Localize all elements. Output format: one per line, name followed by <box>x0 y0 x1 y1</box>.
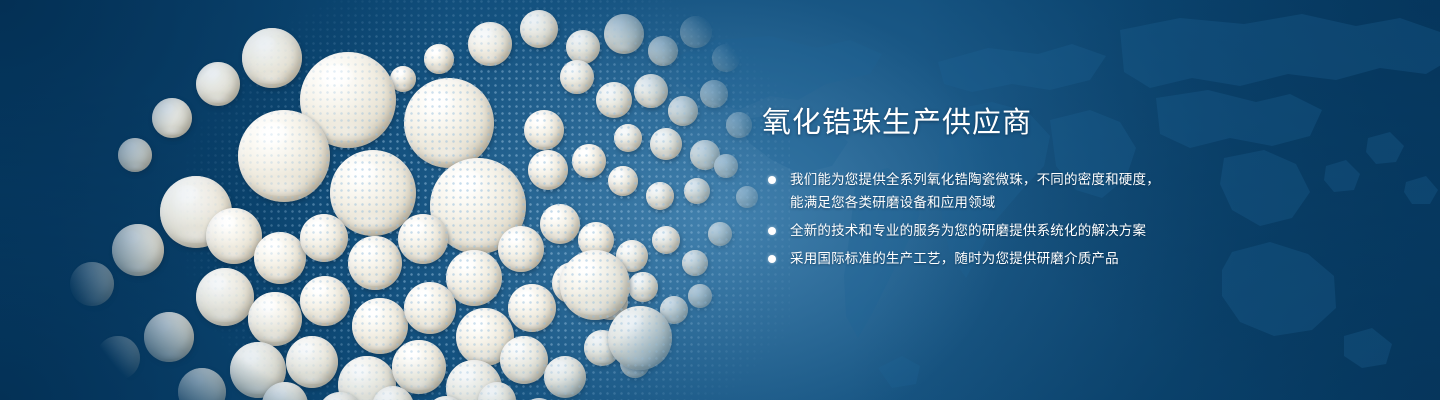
banner-feature-list: 我们能为您提供全系列氧化锆陶瓷微珠，不同的密度和硬度，能满足您各类研磨设备和应用… <box>762 168 1382 270</box>
bullet-line: 能满足您各类研磨设备和应用领域 <box>790 191 1382 214</box>
hero-banner: 氧化锆珠生产供应商 我们能为您提供全系列氧化锆陶瓷微珠，不同的密度和硬度，能满足… <box>0 0 1440 400</box>
bullet-line: 全新的技术和专业的服务为您的研磨提供系统化的解决方案 <box>790 219 1382 242</box>
banner-title: 氧化锆珠生产供应商 <box>762 106 1382 140</box>
bullet-line: 我们能为您提供全系列氧化锆陶瓷微珠，不同的密度和硬度， <box>790 168 1382 191</box>
bullet-line: 采用国际标准的生产工艺，随时为您提供研磨介质产品 <box>790 247 1382 270</box>
feature-bullet: 全新的技术和专业的服务为您的研磨提供系统化的解决方案 <box>762 219 1382 242</box>
banner-content: 氧化锆珠生产供应商 我们能为您提供全系列氧化锆陶瓷微珠，不同的密度和硬度，能满足… <box>762 106 1382 270</box>
bullet-dot-icon <box>768 176 776 184</box>
feature-bullet: 采用国际标准的生产工艺，随时为您提供研磨介质产品 <box>762 247 1382 270</box>
feature-bullet: 我们能为您提供全系列氧化锆陶瓷微珠，不同的密度和硬度，能满足您各类研磨设备和应用… <box>762 168 1382 214</box>
bullet-dot-icon <box>768 227 776 235</box>
bullet-dot-icon <box>768 255 776 263</box>
